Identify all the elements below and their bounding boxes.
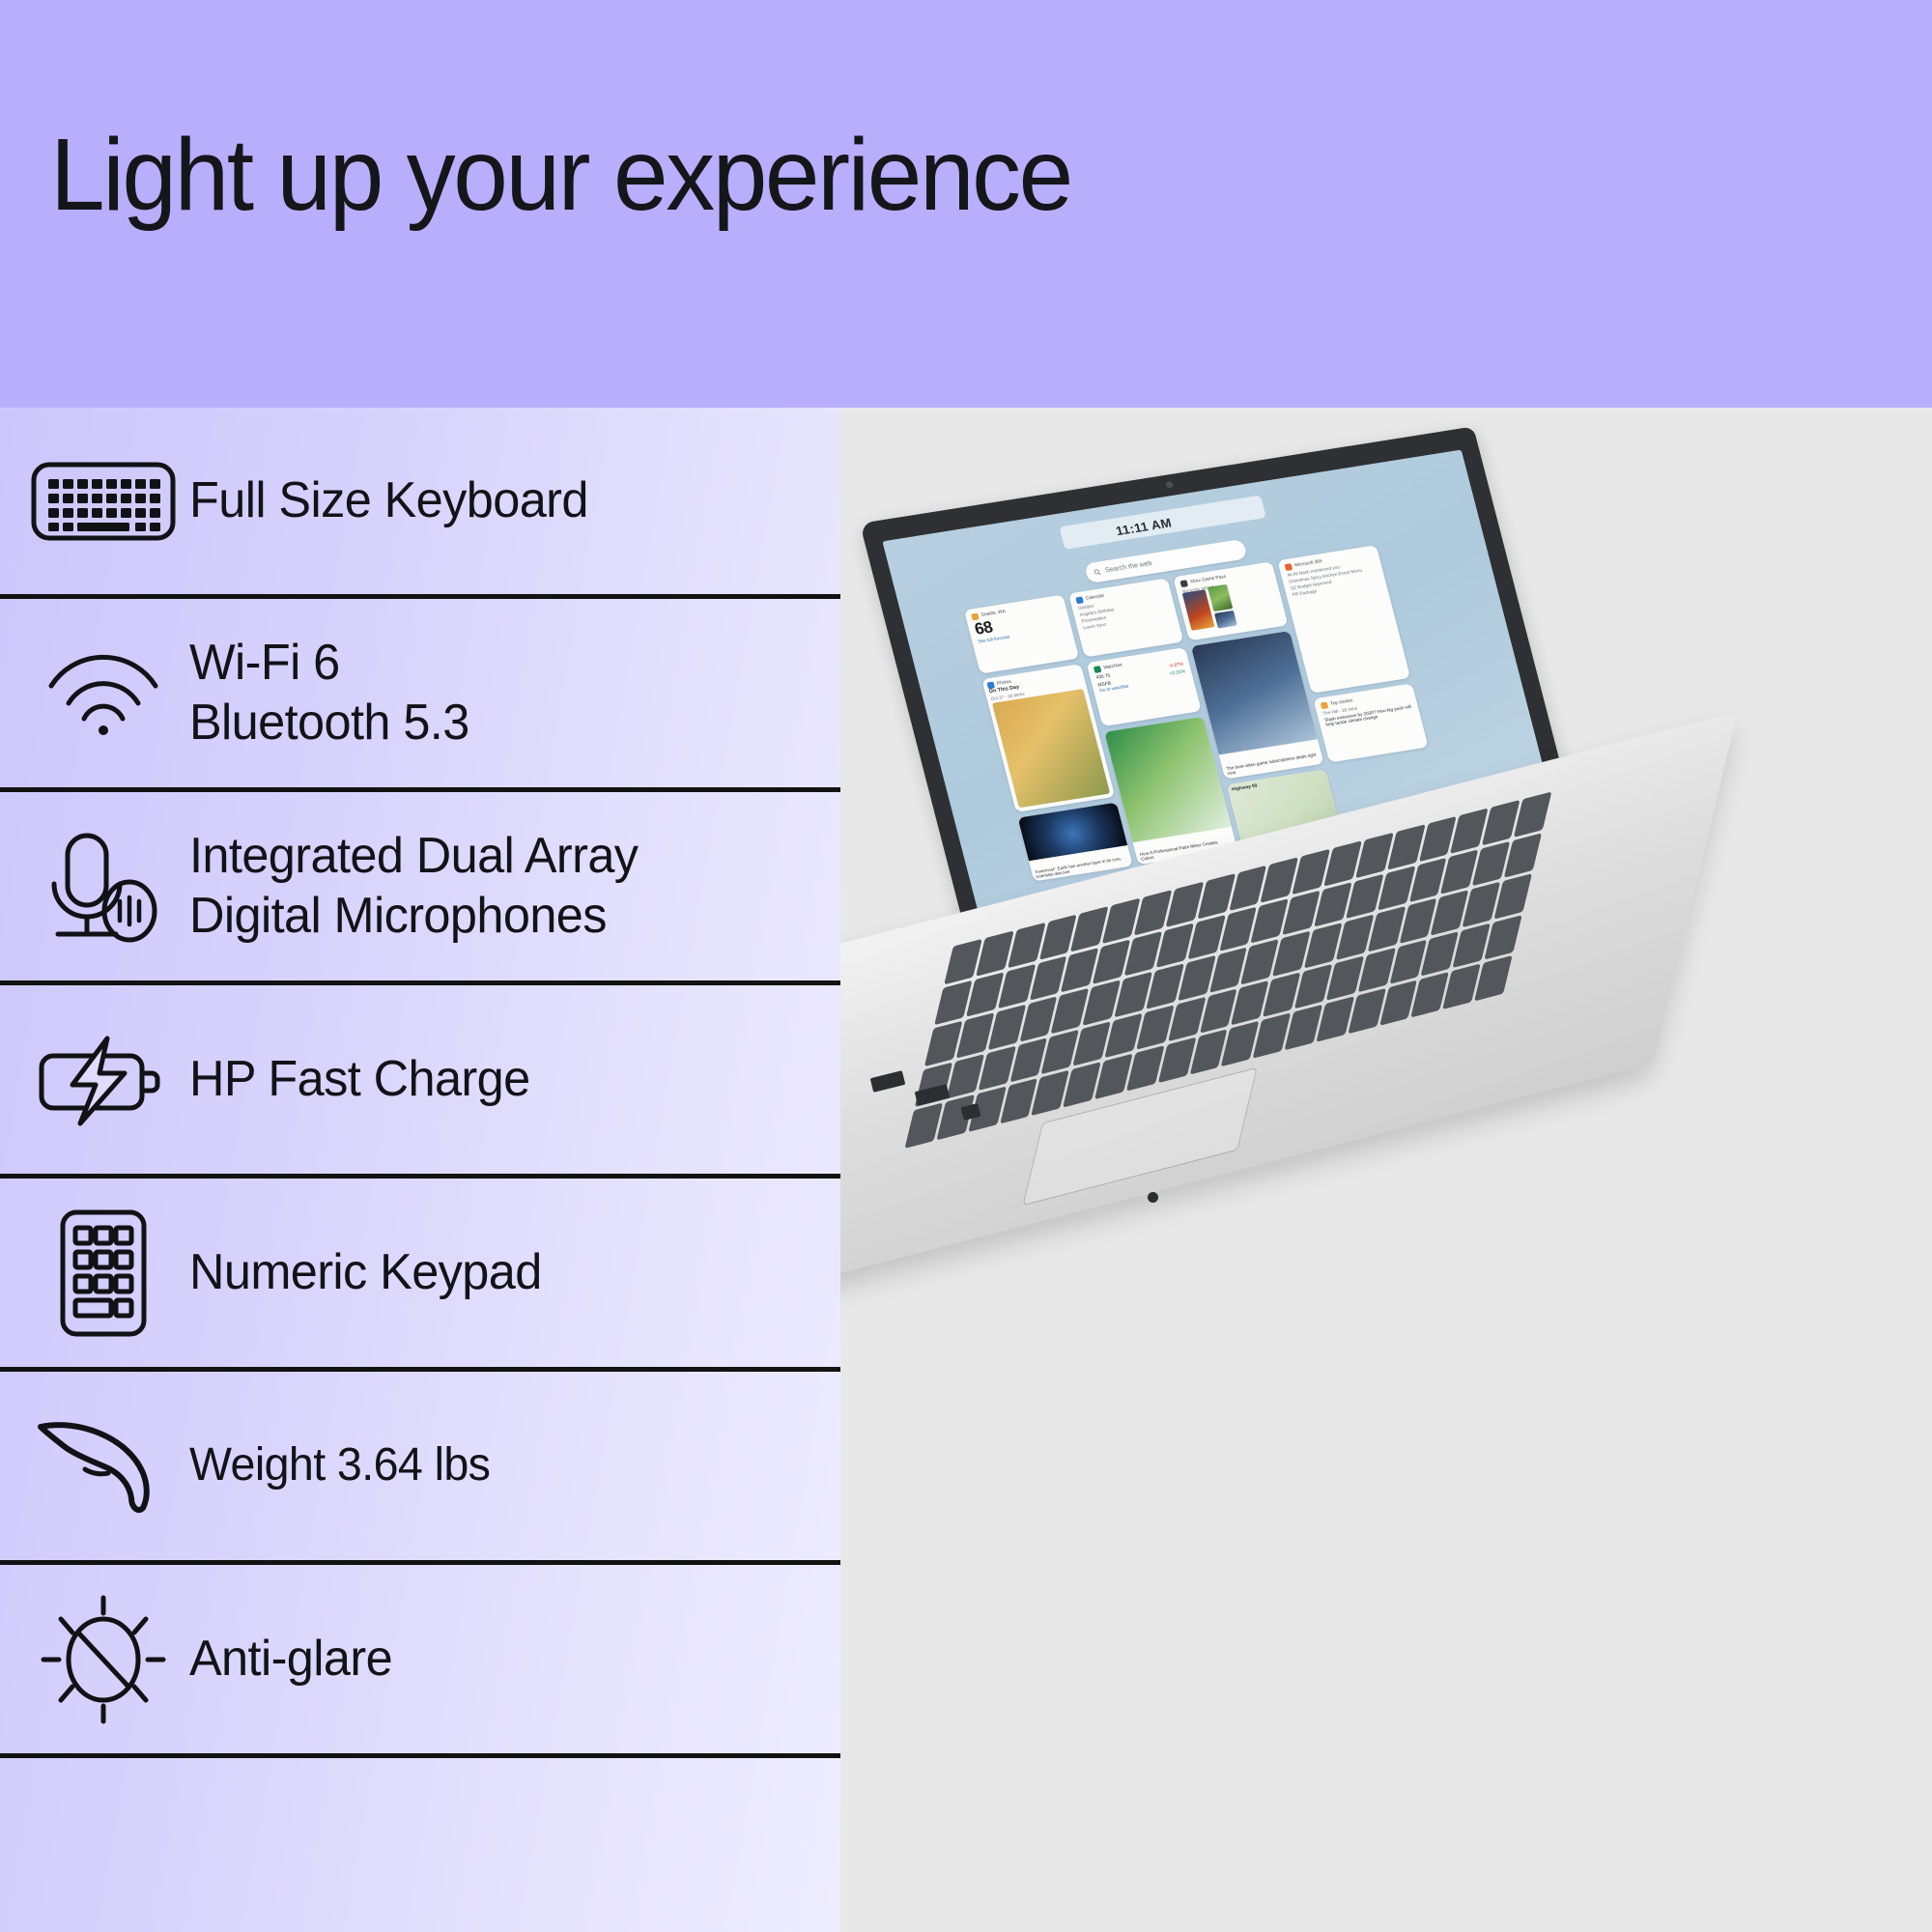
feature-label-line1: Integrated Dual Array	[189, 827, 638, 886]
page-title: Light up your experience	[50, 124, 1071, 226]
watchlist-widget[interactable]: Watchlist 435.75-0.87% MSFB+2.31% Go to …	[1087, 647, 1202, 726]
feature-label-line1: Anti-glare	[189, 1631, 392, 1687]
header-band: Light up your experience	[0, 0, 1932, 408]
promo-page: Light up your experience 11:11 AM	[0, 0, 1932, 1932]
product-image-panel: 11:11 AM Search the web Seattle, W	[840, 408, 1932, 1932]
anti-glare-sun-icon	[17, 1592, 189, 1727]
hp-laptop-image: 11:11 AM Search the web Seattle, W	[840, 408, 1932, 1932]
feature-row-numeric-keypad[interactable]: Numeric Keypad	[0, 1179, 840, 1372]
gaming-photo	[1191, 631, 1318, 754]
numeric-keypad-icon	[17, 1208, 189, 1338]
stock-price: 435.75	[1095, 674, 1111, 681]
feather-icon	[17, 1413, 189, 1520]
feature-row-weight[interactable]: Weight 3.64 lbs	[0, 1372, 840, 1565]
keyboard-icon	[17, 460, 189, 543]
feature-label-line1: Numeric Keypad	[189, 1244, 542, 1300]
calendar-title: Calendar	[1085, 594, 1105, 602]
feature-label-line1: Weight 3.64 lbs	[189, 1439, 490, 1491]
feature-label-keyboard: Full Size Keyboard	[189, 471, 588, 530]
search-icon	[1094, 568, 1102, 576]
microphone-icon	[17, 830, 189, 944]
feature-row-microphone[interactable]: Integrated Dual Array Digital Microphone…	[0, 792, 840, 985]
feature-list-panel: Full Size Keyboard Wi-Fi 6 Bluetooth 5.3	[0, 408, 840, 1932]
feature-row-fast-charge[interactable]: HP Fast Charge	[0, 985, 840, 1179]
feature-label-wifi: Wi-Fi 6 Bluetooth 5.3	[189, 634, 469, 753]
game-cover-extra	[1214, 611, 1237, 629]
battery-charge-icon	[17, 1033, 189, 1127]
xbox-game-pass-widget[interactable]: Xbox Game Pass Recently added	[1173, 561, 1288, 640]
watchlist-title: Watchlist	[1103, 664, 1122, 671]
feature-label-weight: Weight 3.64 lbs	[189, 1438, 490, 1493]
paint-photo	[1104, 717, 1232, 842]
feature-label-line2: Bluetooth 5.3	[189, 694, 469, 753]
headphone-jack	[1148, 1192, 1158, 1203]
wifi-icon	[17, 647, 189, 740]
feature-label-line1: Wi-Fi 6	[189, 634, 469, 693]
news-card-top-stories[interactable]: Top stories The Hill - 18 mins Slash emi…	[1313, 683, 1428, 762]
panel-tail-space	[0, 1758, 840, 1816]
webcam-icon	[1165, 481, 1174, 489]
stock-change: -0.87%	[1169, 663, 1184, 669]
photo-thumbnail	[992, 689, 1110, 808]
feature-label-line2: Digital Microphones	[189, 887, 638, 946]
feature-label-line1: HP Fast Charge	[189, 1051, 530, 1107]
weather-widget[interactable]: Seattle, WA 68 See full forecast	[964, 595, 1079, 674]
earth-photo	[1017, 802, 1127, 861]
news-card-earth[interactable]: 'Innermost': Earth has another layer in …	[1017, 802, 1132, 881]
feature-label-fast-charge: HP Fast Charge	[189, 1050, 530, 1109]
news-header: Top stories	[1330, 698, 1353, 706]
feature-label-numeric-keypad: Numeric Keypad	[189, 1243, 542, 1302]
feature-label-microphone: Integrated Dual Array Digital Microphone…	[189, 827, 638, 946]
calendar-widget[interactable]: Calendar October Angela's Birthday Prese…	[1068, 578, 1183, 657]
feature-row-anti-glare[interactable]: Anti-glare	[0, 1565, 840, 1758]
feature-row-wifi[interactable]: Wi-Fi 6 Bluetooth 5.3	[0, 599, 840, 792]
feature-row-keyboard[interactable]: Full Size Keyboard	[0, 408, 840, 599]
feature-label-anti-glare: Anti-glare	[189, 1630, 392, 1689]
game-cover-minecraft	[1207, 584, 1233, 611]
feature-label-line1: Full Size Keyboard	[189, 472, 588, 528]
search-placeholder: Search the web	[1104, 560, 1152, 574]
